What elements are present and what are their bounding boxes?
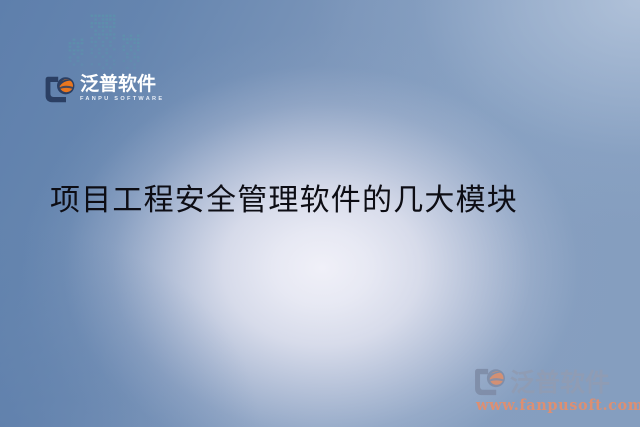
watermark-url: www.fanpusoft.com — [474, 399, 636, 414]
slide-canvas: 泛普软件 FANPU SOFTWARE 项目工程安全管理软件的几大模块 泛普软件… — [0, 0, 640, 427]
fanpu-logo-text: 泛普软件 FANPU SOFTWARE — [80, 75, 164, 102]
fanpu-emblem-watermark-icon — [474, 368, 506, 396]
page-title: 项目工程安全管理软件的几大模块 — [50, 182, 518, 220]
fanpu-watermark: 泛普软件 www.fanpusoft.com — [474, 366, 636, 416]
watermark-logo-row: 泛普软件 — [474, 366, 636, 398]
fanpu-logo-cn: 泛普软件 — [80, 75, 164, 94]
city-skyline-icon — [66, 6, 142, 72]
watermark-brand-cn: 泛普软件 — [510, 370, 610, 395]
fanpu-emblem-icon — [45, 76, 75, 103]
fanpu-logo-en: FANPU SOFTWARE — [80, 95, 164, 103]
fanpu-logo: 泛普软件 FANPU SOFTWARE — [45, 70, 173, 108]
